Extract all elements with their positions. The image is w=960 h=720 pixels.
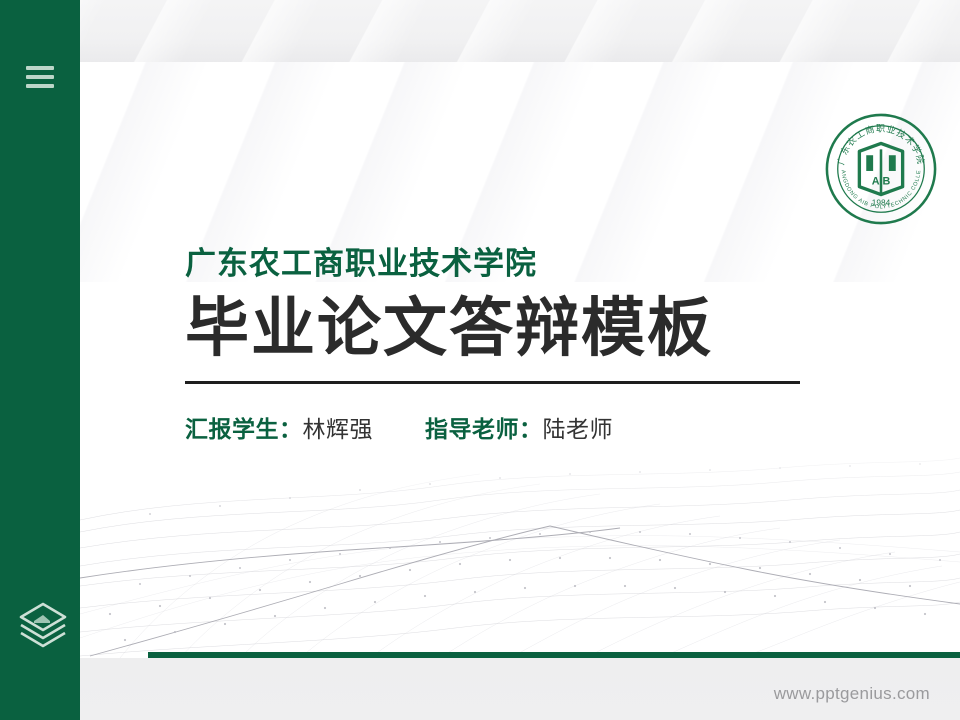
page-title: 毕业论文答辩模板 xyxy=(185,293,905,365)
slide-card: 广东农工商职业技术学院 GUANGDONG AIB POLYTECHNIC CO… xyxy=(80,62,960,658)
menu-bar-1 xyxy=(26,66,54,70)
top-decorative-band xyxy=(0,0,960,64)
advisor-name: 陆老师 xyxy=(543,410,614,444)
footer-url[interactable]: www.pptgenius.com xyxy=(774,684,930,704)
svg-text:AIB: AIB xyxy=(872,176,891,188)
stacked-layers-icon[interactable] xyxy=(17,600,69,648)
dot-mesh-wave-graphic xyxy=(80,428,960,658)
presenter-name: 林辉强 xyxy=(303,410,374,444)
menu-bar-2 xyxy=(26,75,54,79)
college-seal-icon: 广东农工商职业技术学院 GUANGDONG AIB POLYTECHNIC CO… xyxy=(822,110,940,228)
school-name: 广东农工商职业技术学院 xyxy=(185,247,905,281)
presenter-advisor-row: 汇报学生： 林辉强 指导老师： 陆老师 xyxy=(185,410,905,444)
menu-bar-3 xyxy=(26,84,54,88)
card-bottom-green-rule xyxy=(148,652,960,658)
presentation-slide: 广东农工商职业技术学院 GUANGDONG AIB POLYTECHNIC CO… xyxy=(0,0,960,720)
svg-text:1984: 1984 xyxy=(872,197,891,207)
presenter-label: 汇报学生： xyxy=(185,410,303,444)
hamburger-menu-icon[interactable] xyxy=(26,66,54,88)
title-divider xyxy=(185,381,800,384)
left-green-sidebar xyxy=(0,0,80,720)
advisor-label: 指导老师： xyxy=(425,410,543,444)
title-text-block: 广东农工商职业技术学院 毕业论文答辩模板 汇报学生： 林辉强 指导老师： 陆老师 xyxy=(185,247,905,444)
